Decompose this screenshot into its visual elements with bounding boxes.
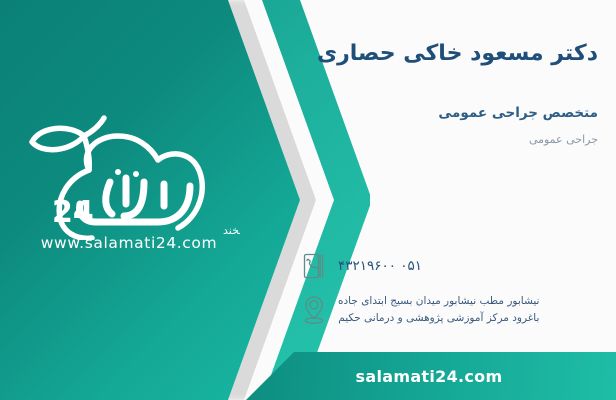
business-card: 24 براحتی یک لبخند www.salamati24.com دک… bbox=[0, 0, 616, 400]
address-text: نیشابور مطب نیشابور میدان بسیج ابتدای جا… bbox=[338, 293, 539, 328]
phone-number: ۴۳۲۱۹۶۰۰ ۰۵۱ bbox=[338, 258, 422, 274]
banner-website-text: salamati24.com bbox=[356, 367, 507, 386]
logo-website-url: www.salamati24.com bbox=[18, 234, 240, 252]
doctor-name: دکتر مسعود خاکی حصاری bbox=[298, 40, 598, 68]
logo-badge-number: 24 bbox=[52, 195, 94, 230]
address-line-1: نیشابور مطب نیشابور میدان بسیج ابتدای جا… bbox=[338, 293, 539, 310]
phone-contact-row: ۴۳۲۱۹۶۰۰ ۰۵۱ bbox=[300, 248, 600, 284]
card-details: دکتر مسعود خاکی حصاری متخصص جراحی عمومی … bbox=[286, 0, 616, 400]
salamati-apple-logo-icon: 24 براحتی یک لبخند bbox=[18, 112, 240, 240]
logo-24-badge: 24 bbox=[52, 195, 94, 230]
map-pin-icon bbox=[300, 295, 328, 325]
address-line-2: باغرود مرکز آموزشی پژوهشی و درمانی حکیم bbox=[338, 310, 539, 327]
phone-book-icon bbox=[300, 251, 328, 281]
doctor-specialty: متخصص جراحی عمومی bbox=[298, 105, 598, 121]
doctor-subspecialty: جراحی عمومی bbox=[298, 133, 598, 146]
brand-logo: 24 براحتی یک لبخند www.salamati24.com bbox=[18, 112, 240, 272]
address-contact-row: نیشابور مطب نیشابور میدان بسیج ابتدای جا… bbox=[300, 288, 600, 332]
website-banner[interactable]: salamati24.com bbox=[246, 352, 616, 400]
